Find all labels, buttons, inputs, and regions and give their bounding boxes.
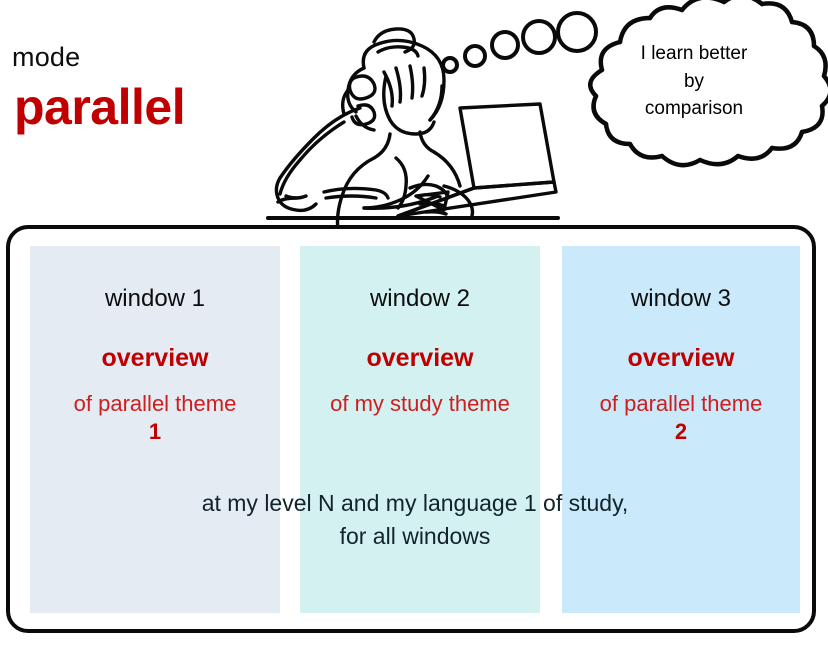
window-1-overview-label: overview [30,345,280,373]
thought-line-1: I learn better [604,40,784,68]
thought-bubble-text: I learn better by comparison [604,40,784,123]
window-column-1-content: window 1 overview of parallel theme 1 [30,246,280,446]
windows-panel: window 1 overview of parallel theme 1 wi… [6,225,816,633]
window-1-overview-sub-text: of parallel theme [74,391,237,416]
header: mode parallel [0,0,828,222]
caption-line-2: for all windows [30,520,800,553]
window-3-overview-sub: of parallel theme 2 [562,390,800,446]
window-2-overview-sub-text: of my study theme [330,391,510,416]
mode-label: mode [12,44,80,71]
window-1-overview-sub: of parallel theme 1 [30,390,280,446]
panel-caption: at my level N and my language 1 of study… [30,487,800,552]
window-3-overview-num: 2 [675,419,687,444]
caption-line-1: at my level N and my language 1 of study… [30,487,800,520]
window-1-overview-num: 1 [149,419,161,444]
window-2-title: window 2 [300,286,540,312]
window-2-overview-sub: of my study theme [300,390,540,418]
window-1-title: window 1 [30,286,280,312]
window-column-1[interactable]: window 1 overview of parallel theme 1 [30,246,280,613]
window-3-title: window 3 [562,286,800,312]
thought-line-2: by [604,68,784,96]
window-column-3-content: window 3 overview of parallel theme 2 [562,246,800,446]
window-column-2-content: window 2 overview of my study theme [300,246,540,418]
mode-value: parallel [14,82,185,132]
window-3-overview-label: overview [562,345,800,373]
window-columns: window 1 overview of parallel theme 1 wi… [10,229,812,629]
window-3-overview-sub-text: of parallel theme [600,391,763,416]
window-column-3[interactable]: window 3 overview of parallel theme 2 [562,246,800,613]
thought-line-3: comparison [604,95,784,123]
window-column-2[interactable]: window 2 overview of my study theme [300,246,540,613]
window-2-overview-label: overview [300,345,540,373]
